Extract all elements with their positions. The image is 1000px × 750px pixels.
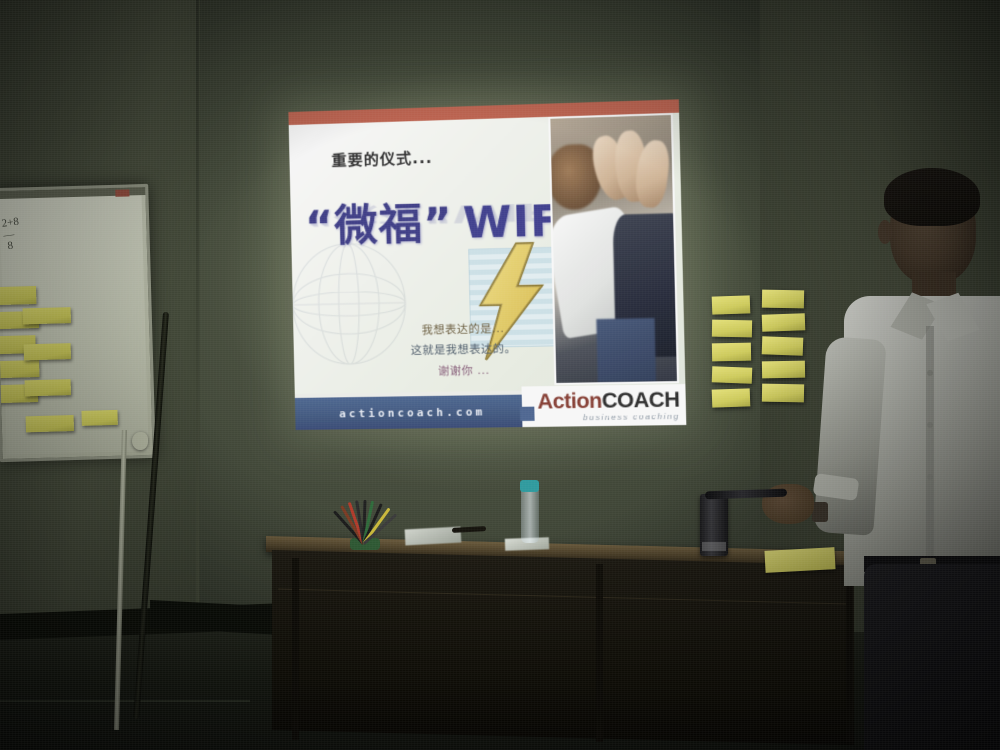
sticky-note: [23, 307, 71, 324]
logo-tagline: business coaching: [583, 411, 680, 421]
desk-body: [272, 550, 854, 745]
wall-sticky-note: [712, 343, 751, 362]
slide-footer: actioncoach.com ActionCOACH business coa…: [295, 388, 687, 430]
slide-body: 重要的仪式... “微福”WIFLE “微福”WIFLE: [289, 113, 686, 394]
photo-blue-region: [596, 318, 656, 382]
logo-action-text: Action: [537, 389, 602, 413]
slide-url-text: actioncoach.com: [339, 405, 486, 420]
sticky-note: [24, 343, 71, 360]
wall-sticky-column-left: [712, 296, 752, 407]
slide-title-chinese: “微福”: [304, 199, 453, 253]
presenter: [820, 160, 1000, 750]
shirt-button: [927, 474, 933, 480]
canister-label: [702, 542, 726, 551]
whiteboard: 2+8 — 8: [0, 184, 156, 462]
slide-heading: 重要的仪式...: [331, 147, 433, 171]
wall-sticky-note: [762, 361, 805, 379]
wall-corner: [196, 0, 199, 660]
water-bottle-cap: [520, 480, 539, 492]
desk-leg: [292, 558, 299, 740]
shirt-button: [927, 526, 933, 532]
wall-sticky-note: [712, 388, 751, 407]
wall-sticky-note: [762, 290, 804, 309]
wall-sticky-note: [712, 320, 752, 338]
slide-subtext: 我想表达的是... 这就是我想表达的。 谢谢你 ...: [371, 318, 556, 383]
projected-slide: 重要的仪式... “微福”WIFLE “微福”WIFLE: [288, 99, 686, 430]
logo-wordmark: ActionCOACH: [537, 389, 679, 412]
actioncoach-logo: ActionCOACH business coaching: [522, 384, 687, 427]
whiteboard-sticky-column-right: [23, 307, 74, 432]
floor-line: [0, 700, 250, 702]
wall-sticky-note: [712, 366, 753, 383]
slide-url-bar: actioncoach.com: [295, 395, 531, 430]
presenter-hair: [884, 168, 980, 226]
presenter-watch: [812, 502, 828, 522]
presenter-trousers: [864, 564, 1000, 750]
whiteboard-stand-knob: [132, 432, 148, 450]
wall-sticky-note: [762, 336, 804, 355]
sticky-note: [25, 379, 71, 396]
wall-sticky-column-right: [762, 290, 805, 402]
whiteboard-clip: [115, 189, 129, 196]
pen-holder: [320, 492, 410, 550]
shirt-button: [927, 370, 933, 376]
slide-subtext-line-3: 谢谢你 ...: [372, 359, 556, 383]
wall-sticky-note: [762, 313, 806, 331]
marker: [452, 526, 486, 533]
presenter-ear: [878, 220, 892, 244]
shirt-button: [927, 422, 933, 428]
wall-sticky-note: [762, 384, 804, 403]
room-photo: 2+8 — 8: [0, 0, 1000, 750]
sticky-note: [81, 410, 117, 426]
sticky-note: [26, 415, 74, 432]
wall-sticky-note: [712, 295, 751, 314]
sticky-note: [0, 286, 36, 305]
logo-coach-text: COACH: [602, 388, 680, 413]
logo-square: [520, 407, 535, 421]
high-five-photo: [548, 113, 679, 385]
desk-leg: [596, 564, 603, 742]
presenter-shirt-placket: [926, 326, 934, 576]
